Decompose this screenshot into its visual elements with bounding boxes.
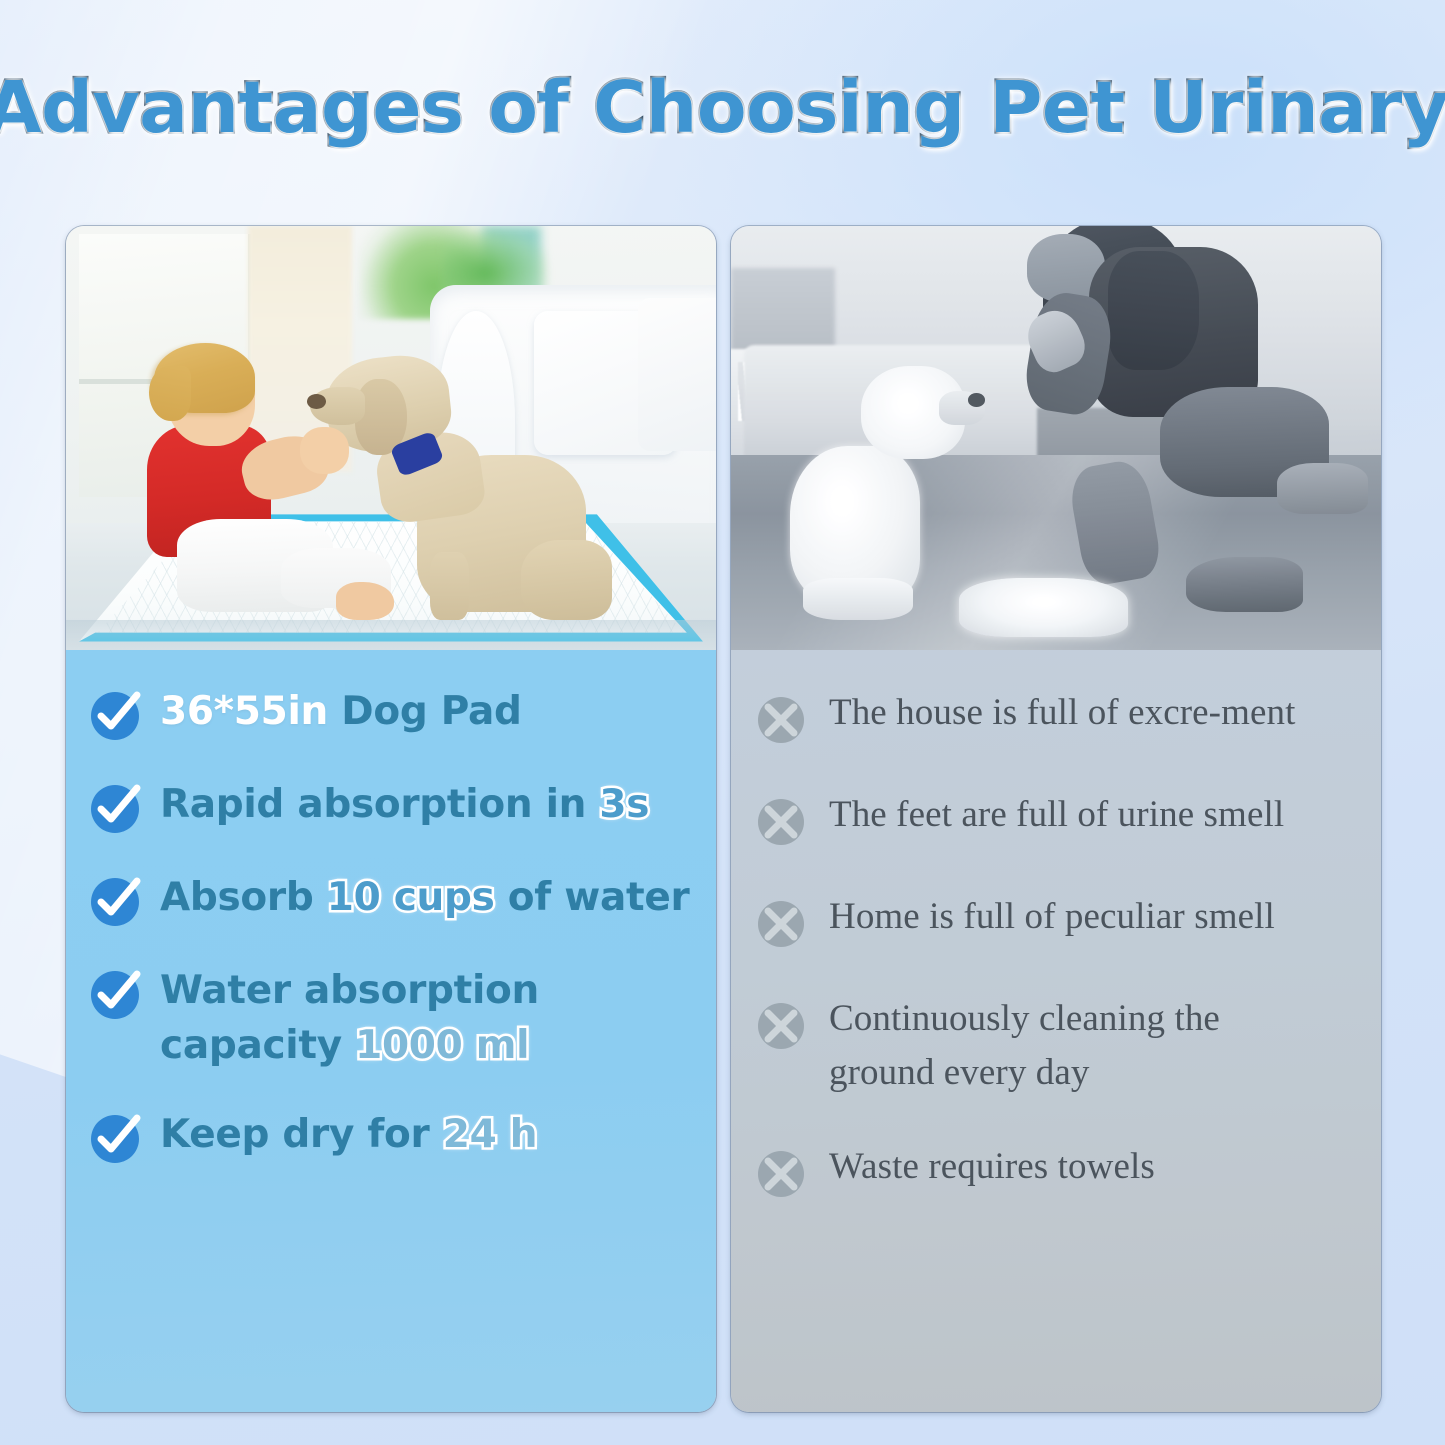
disadvantage-row: Home is full of peculiar smell	[753, 890, 1365, 952]
disadvantage-text: Waste requires towels	[829, 1140, 1365, 1194]
advantage-label: Water absorption	[160, 968, 539, 1013]
advantage-label: Absorb	[160, 875, 327, 920]
white-dog-legs	[803, 578, 914, 620]
photo-boy-and-puppy-on-pee-pad	[66, 226, 716, 650]
boy-hand	[300, 427, 349, 474]
advantages-list: 36*55in Dog PadRapid absorption in 3sAbs…	[66, 650, 716, 1412]
page-title: Advantages of Choosing Pet Urinary Mats	[0, 72, 1445, 143]
disadvantages-list: The house is full of excre-mentThe feet …	[731, 650, 1381, 1412]
puppy-front-leg	[430, 552, 469, 620]
check-circle-icon	[88, 1109, 146, 1167]
disadvantage-row: Continuously cleaning theground every da…	[753, 992, 1365, 1100]
white-dog-nose	[968, 393, 985, 407]
advantage-text: Absorb 10 cups of water	[160, 870, 698, 925]
advantage-label: Rapid absorption in	[160, 782, 599, 827]
advantage-highlight-value: 10 cups	[327, 875, 495, 920]
check-circle-icon	[88, 872, 146, 930]
woman-hair-strand	[1108, 251, 1199, 370]
boy-foot	[336, 582, 395, 620]
check-circle-icon	[88, 686, 146, 744]
check-circle-icon	[88, 965, 146, 1023]
puppy-nose	[307, 394, 327, 409]
advantage-text: Keep dry for 24 h	[160, 1107, 698, 1162]
advantage-text: 36*55in Dog Pad	[160, 684, 698, 739]
advantage-row: Absorb 10 cups of water	[88, 870, 698, 930]
floor-reflection	[66, 620, 716, 650]
cushion-shape-secondary	[638, 298, 716, 451]
disadvantage-text: Continuously cleaning theground every da…	[829, 992, 1365, 1100]
cross-circle-icon	[753, 1144, 811, 1202]
advantage-label: Keep dry for	[160, 1112, 443, 1157]
infographic-root: Advantages of Choosing Pet Urinary Mats	[0, 0, 1445, 1445]
disadvantage-row: The house is full of excre-ment	[753, 686, 1365, 748]
puppy-hind-leg	[521, 540, 612, 621]
advantage-highlight-value: 3s	[599, 782, 649, 827]
advantage-row: Rapid absorption in 3s	[88, 777, 698, 837]
boy-hair-strand	[149, 366, 191, 421]
advantages-card: 36*55in Dog PadRapid absorption in 3sAbs…	[66, 226, 716, 1412]
cross-circle-icon	[753, 690, 811, 748]
advantage-text: Water absorptioncapacity 1000 ml	[160, 963, 698, 1074]
advantage-text: Rapid absorption in 3s	[160, 777, 698, 832]
advantage-label: of water	[495, 875, 690, 920]
cross-circle-icon	[753, 996, 811, 1054]
advantage-row: Keep dry for 24 h	[88, 1107, 698, 1167]
disadvantage-text: The feet are full of urine smell	[829, 788, 1365, 842]
disadvantage-text: The house is full of excre-ment	[829, 686, 1365, 740]
disadvantage-text: Home is full of peculiar smell	[829, 890, 1365, 944]
photo-woman-cleaning-floor-with-dog	[731, 226, 1381, 650]
advantage-row: Water absorptioncapacity 1000 ml	[88, 963, 698, 1074]
advantage-highlight-value: 24 h	[443, 1112, 537, 1157]
advantage-label: capacity	[160, 1023, 355, 1068]
advantage-highlight-value: 1000 ml	[355, 1023, 529, 1068]
disadvantage-row: The feet are full of urine smell	[753, 788, 1365, 850]
cross-circle-icon	[753, 792, 811, 850]
woman-shoe	[1186, 557, 1303, 612]
cross-circle-icon	[753, 894, 811, 952]
woman-back-shoe	[1277, 463, 1368, 514]
disadvantage-row: Waste requires towels	[753, 1140, 1365, 1202]
advantage-row: 36*55in Dog Pad	[88, 684, 698, 744]
disadvantages-card: The house is full of excre-mentThe feet …	[731, 226, 1381, 1412]
advantage-label: Dog Pad	[328, 689, 522, 734]
advantage-highlight-value: 36*55in	[160, 689, 328, 734]
check-circle-icon	[88, 779, 146, 837]
cleaning-cloth	[959, 578, 1128, 637]
